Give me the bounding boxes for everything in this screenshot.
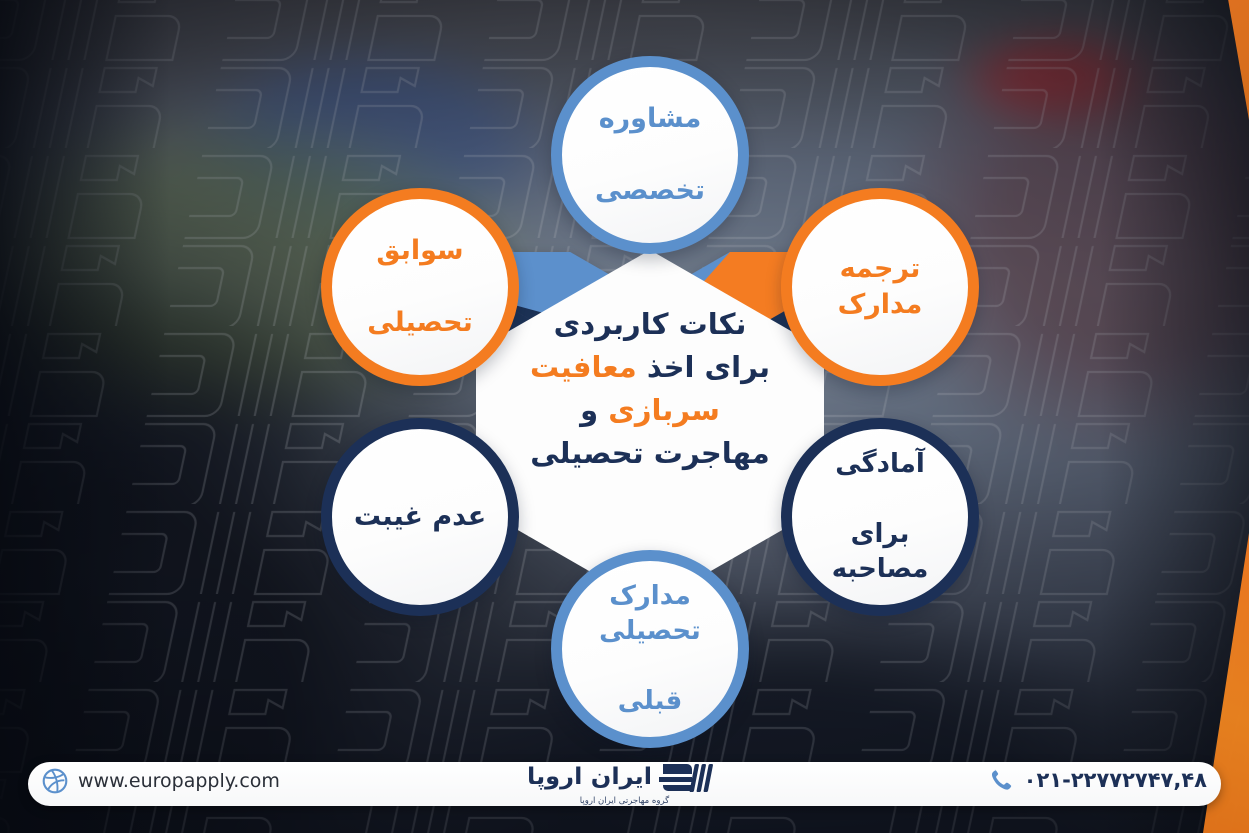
node-consultation-line1: مشاوره <box>585 101 715 137</box>
brand-logo-row: ایران اروپا <box>530 763 718 793</box>
node-academic-record[interactable]: سوابق تحصیلی <box>321 188 519 386</box>
phone-icon <box>989 768 1013 792</box>
node-document-translation-label: ترجمه مدارک <box>792 251 968 323</box>
brand-logo-subtitle: گروه مهاجرتی ایران اروپا <box>580 796 669 806</box>
node-document-translation[interactable]: ترجمه مدارک <box>781 188 979 386</box>
brand-logo: ایران اروپا گروه مهاجرتی ایران اروپا <box>510 758 740 810</box>
center-title: نکات کاربردی برای اخذ معافیت سربازی و مه… <box>490 284 810 494</box>
node-interview-prep[interactable]: آمادگی برای مصاحبه <box>781 418 979 616</box>
node-consultation-line2: تخصصی <box>585 173 715 209</box>
hexagon-wheel-diagram: نکات کاربردی برای اخذ معافیت سربازی و مه… <box>300 36 1000 736</box>
footer-phone-text: ۰۲۱-۲۲۷۷۲۷۴۷,۴۸ <box>1024 768 1207 792</box>
background-left-shade <box>0 0 170 833</box>
center-line-1: نکات کاربردی <box>554 303 747 346</box>
center-line-3: سربازی و <box>580 389 720 432</box>
node-no-absence-label: عدم غیبت <box>344 499 496 535</box>
node-prior-documents-line1: مدارک تحصیلی <box>572 579 728 649</box>
brand-logo-mark-icon <box>657 763 719 793</box>
brand-logo-wordmark: ایران اروپا <box>528 766 653 789</box>
center-line-3-suffix: و <box>580 393 608 427</box>
node-interview-prep-line2: برای مصاحبه <box>802 517 958 587</box>
node-prior-documents[interactable]: مدارک تحصیلی قبلی <box>551 550 749 748</box>
center-line-2-highlight: معافیت <box>530 350 637 384</box>
node-academic-record-line1: سوابق <box>357 233 483 269</box>
node-prior-documents-label: مدارک تحصیلی قبلی <box>562 579 738 718</box>
node-consultation-label: مشاوره تخصصی <box>575 101 725 210</box>
center-line-3-highlight: سربازی <box>608 393 720 427</box>
node-academic-record-label: سوابق تحصیلی <box>347 233 493 342</box>
node-no-absence[interactable]: عدم غیبت <box>321 418 519 616</box>
node-interview-prep-label: آمادگی برای مصاحبه <box>792 447 968 586</box>
footer-website[interactable]: www.europapply.com <box>42 768 280 794</box>
node-interview-prep-line1: آمادگی <box>802 447 958 482</box>
node-prior-documents-line2: قبلی <box>572 684 728 719</box>
center-line-2-prefix: برای اخذ <box>637 350 770 384</box>
node-consultation[interactable]: مشاوره تخصصی <box>551 56 749 254</box>
footer: www.europapply.com ایران اروپا گروه مهاج… <box>0 750 1249 833</box>
globe-icon <box>42 768 68 794</box>
center-line-2: برای اخذ معافیت <box>530 346 770 389</box>
node-academic-record-line2: تحصیلی <box>357 305 483 341</box>
center-line-4: مهاجرت تحصیلی <box>530 432 770 475</box>
footer-website-text: www.europapply.com <box>78 770 280 792</box>
footer-phone[interactable]: ۰۲۱-۲۲۷۷۲۷۴۷,۴۸ <box>989 768 1207 792</box>
